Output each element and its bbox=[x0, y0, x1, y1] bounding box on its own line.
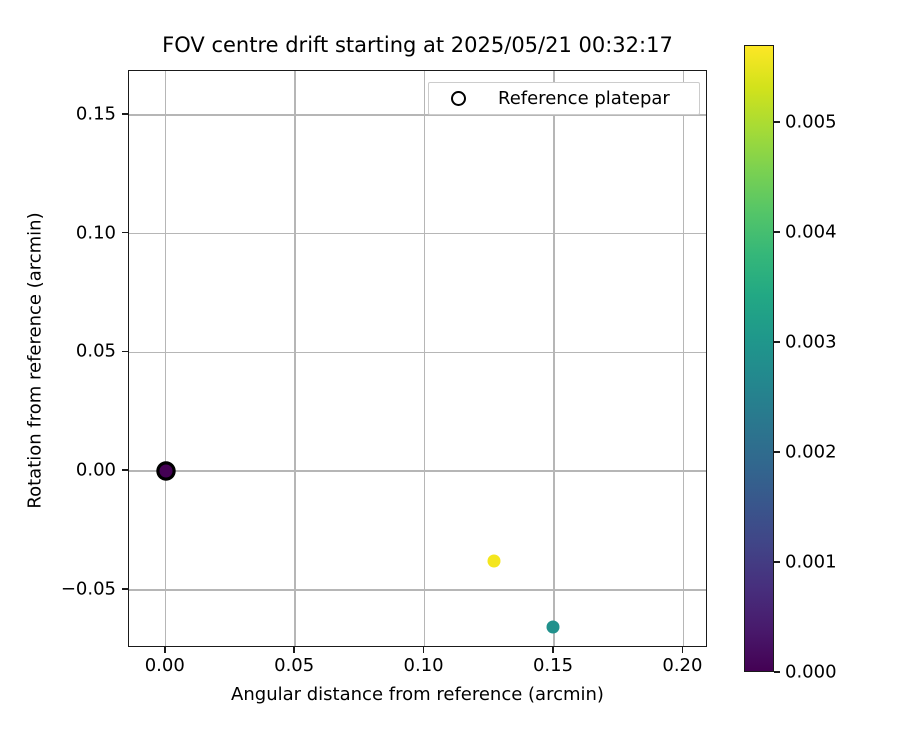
x-axis-tick-label: 0.20 bbox=[662, 655, 702, 676]
y-axis-tick-label: 0.10 bbox=[76, 222, 116, 243]
colorbar-tick bbox=[774, 451, 780, 453]
gridline-vertical bbox=[294, 71, 295, 646]
gridline-vertical bbox=[424, 71, 425, 646]
y-axis-tick bbox=[122, 232, 128, 234]
gridline-vertical bbox=[553, 71, 554, 646]
y-axis-tick bbox=[122, 351, 128, 353]
colorbar-tick bbox=[774, 121, 780, 123]
data-point-reference bbox=[159, 465, 172, 478]
colorbar-tick-label: 0.001 bbox=[785, 552, 837, 573]
gridline-horizontal bbox=[129, 589, 706, 590]
y-axis-tick-label: −0.05 bbox=[61, 578, 116, 599]
x-axis-tick bbox=[164, 647, 166, 653]
gridline-vertical bbox=[683, 71, 684, 646]
x-axis-tick-label: 0.10 bbox=[404, 655, 444, 676]
gridline-horizontal bbox=[129, 233, 706, 234]
y-axis-tick-label: 0.15 bbox=[76, 103, 116, 124]
x-axis-tick-label: 0.15 bbox=[533, 655, 573, 676]
x-axis-tick bbox=[293, 647, 295, 653]
figure-canvas: FOV centre drift starting at 2025/05/21 … bbox=[0, 0, 900, 750]
x-axis-tick-label: 0.05 bbox=[274, 655, 314, 676]
y-axis-label: Rotation from reference (arcmin) bbox=[25, 71, 46, 651]
y-axis-tick bbox=[122, 588, 128, 590]
x-axis-tick bbox=[423, 647, 425, 653]
y-axis-tick-label: 0.05 bbox=[76, 341, 116, 362]
colorbar-tick-label: 0.004 bbox=[785, 222, 837, 243]
colorbar bbox=[744, 45, 774, 672]
colorbar-tick bbox=[774, 561, 780, 563]
legend-marker-reference-platepar bbox=[451, 91, 466, 106]
legend-label-reference-platepar: Reference platepar bbox=[498, 88, 670, 109]
colorbar-tick-label: 0.000 bbox=[785, 662, 837, 683]
y-axis-tick-label: 0.00 bbox=[76, 460, 116, 481]
data-point bbox=[488, 555, 501, 568]
colorbar-tick-label: 0.002 bbox=[785, 442, 837, 463]
gridline-horizontal bbox=[129, 470, 706, 471]
y-axis-tick bbox=[122, 113, 128, 115]
legend-box: Reference platepar bbox=[428, 82, 700, 115]
x-axis-tick bbox=[552, 647, 554, 653]
data-point bbox=[546, 620, 559, 633]
gridline-horizontal bbox=[129, 352, 706, 353]
x-axis-tick-label: 0.00 bbox=[145, 655, 185, 676]
x-axis-label: Angular distance from reference (arcmin) bbox=[128, 684, 707, 705]
colorbar-tick-label: 0.003 bbox=[785, 332, 837, 353]
x-axis-tick bbox=[682, 647, 684, 653]
chart-title: FOV centre drift starting at 2025/05/21 … bbox=[128, 33, 707, 57]
plot-area bbox=[129, 71, 706, 646]
colorbar-tick bbox=[774, 231, 780, 233]
y-axis-tick bbox=[122, 469, 128, 471]
colorbar-tick bbox=[774, 671, 780, 673]
plot-axes bbox=[128, 70, 707, 647]
colorbar-tick bbox=[774, 341, 780, 343]
colorbar-gradient bbox=[745, 46, 773, 671]
colorbar-tick-label: 0.005 bbox=[785, 112, 837, 133]
gridline-vertical bbox=[165, 71, 166, 646]
